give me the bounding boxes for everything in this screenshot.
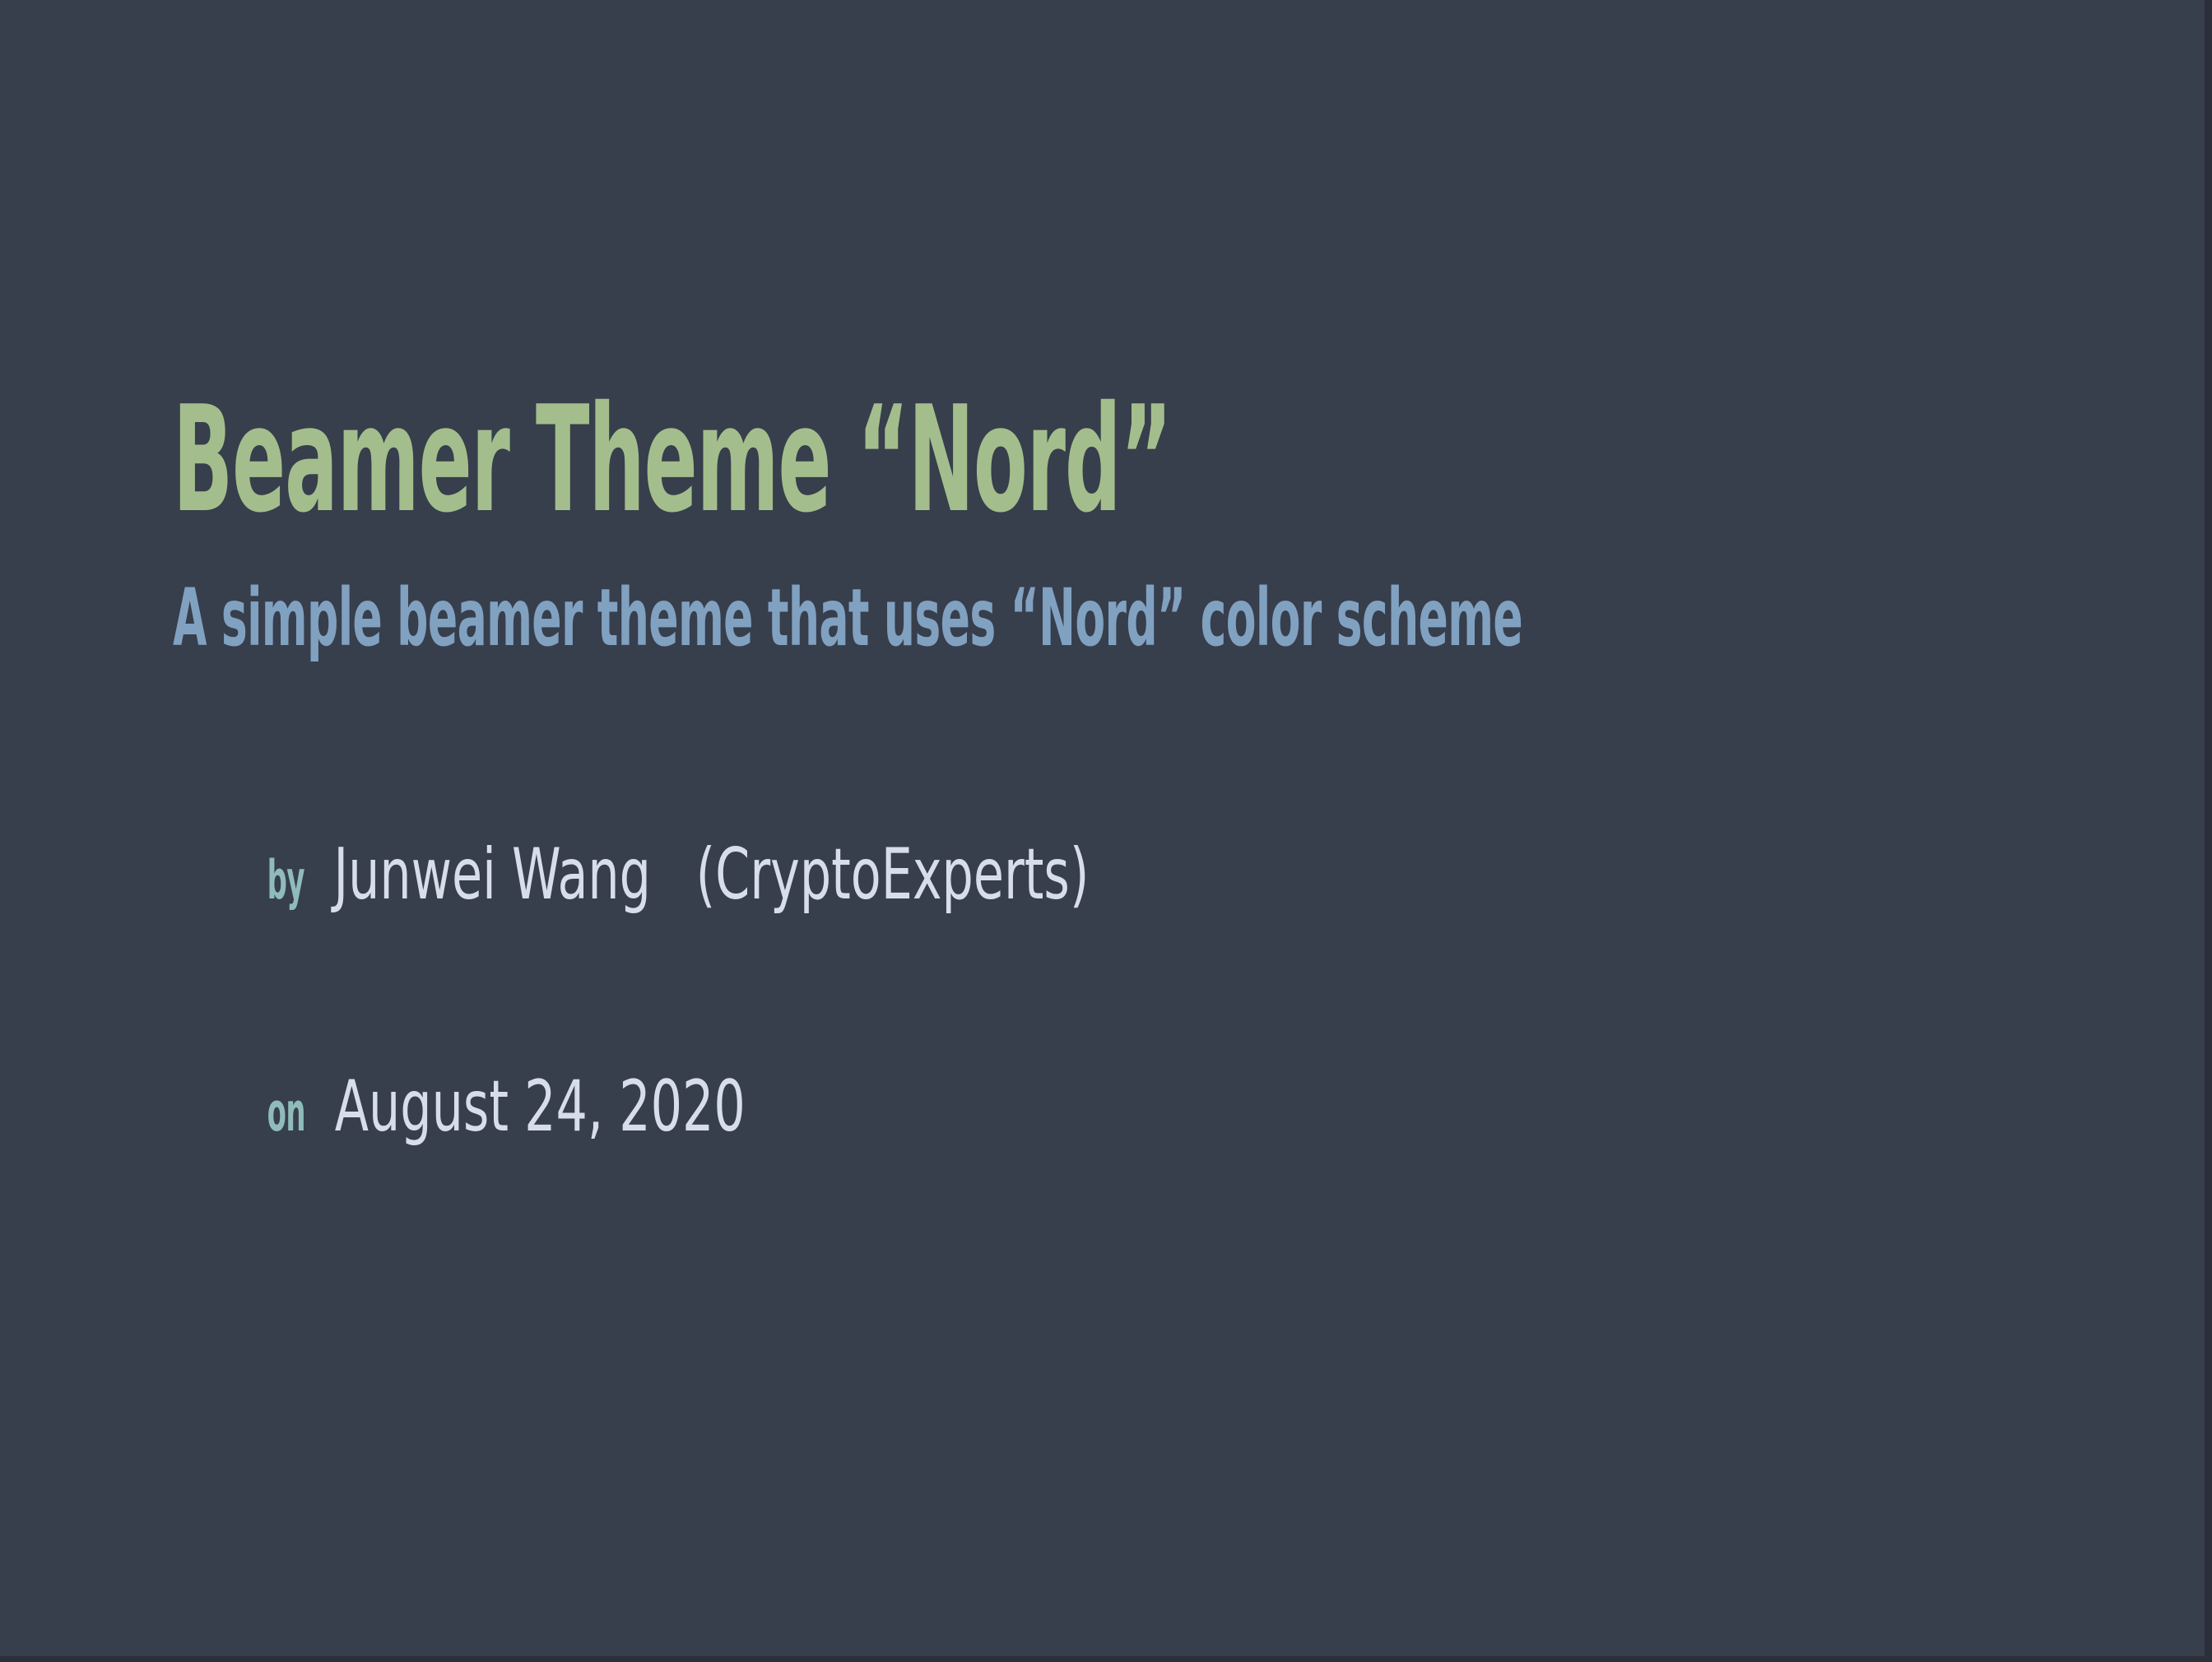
author-affiliation: (CryptoExperts) (696, 833, 1090, 916)
meta-line-gap (173, 981, 2113, 1000)
author-label: by (267, 854, 304, 908)
author-line: by Junwei Wang(CryptoExperts) (173, 768, 1686, 981)
page-edge-bottom (0, 1656, 2212, 1662)
title-block: Beamer Theme “Nord” A simple beamer them… (173, 387, 2113, 1213)
page-title: Beamer Theme “Nord” (173, 387, 1337, 533)
date-line: on August 24, 2020 (173, 1000, 1686, 1213)
author-name: Junwei Wang (333, 833, 651, 916)
page-edge-right (2205, 0, 2212, 1662)
beamer-title-slide: Beamer Theme “Nord” A simple beamer them… (0, 0, 2212, 1662)
date-value: August 24, 2020 (335, 1065, 746, 1148)
subtitle-meta-spacer (173, 657, 2113, 768)
page-subtitle: A simple beamer theme that uses “Nord” c… (173, 578, 1376, 657)
date-label: on (267, 1086, 305, 1140)
